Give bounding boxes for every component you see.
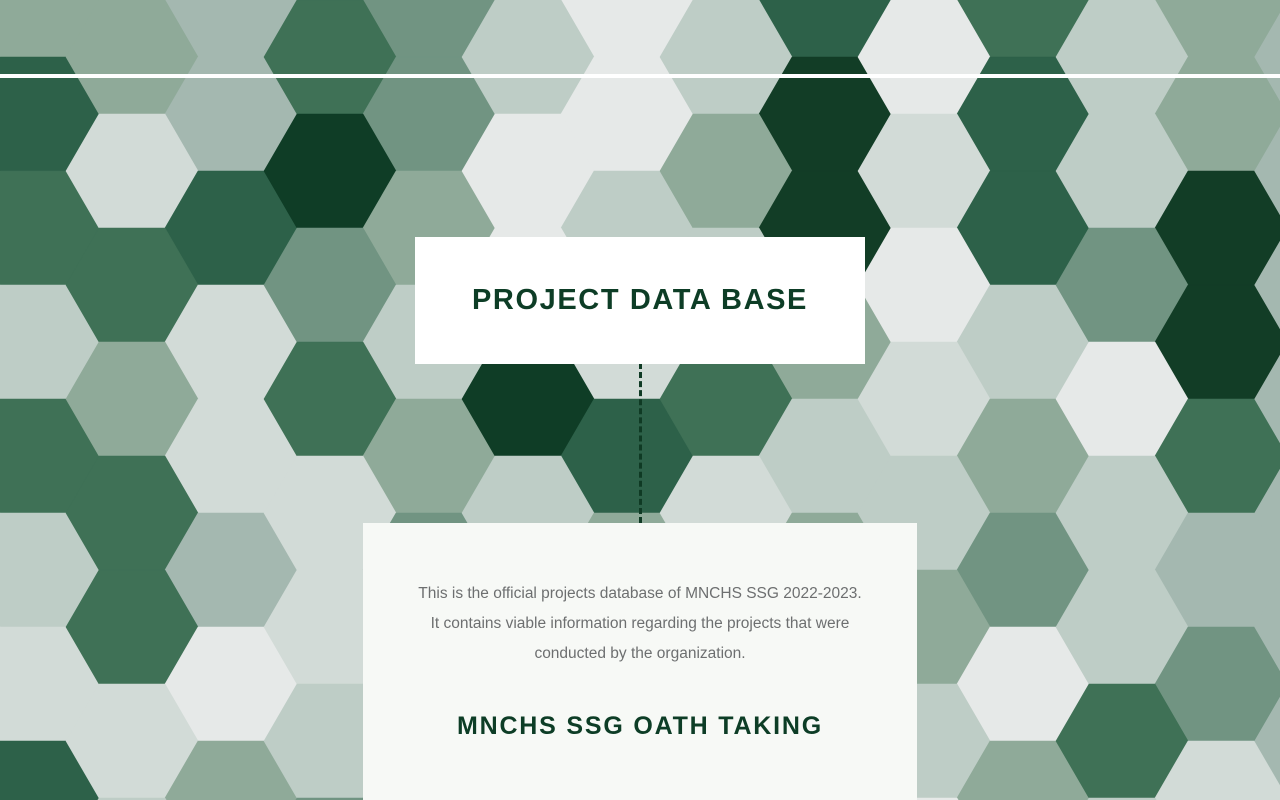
page-title: PROJECT DATA BASE bbox=[472, 284, 808, 317]
title-card: PROJECT DATA BASE bbox=[415, 237, 865, 364]
top-white-rule bbox=[0, 74, 1280, 78]
body-card: This is the official projects database o… bbox=[363, 523, 917, 800]
section-subtitle: MNCHS SSG OATH TAKING bbox=[457, 712, 823, 741]
dashed-vertical-connector-icon bbox=[639, 363, 642, 523]
slide-canvas: PROJECT DATA BASE This is the official p… bbox=[0, 0, 1280, 800]
description-text: This is the official projects database o… bbox=[412, 579, 868, 669]
